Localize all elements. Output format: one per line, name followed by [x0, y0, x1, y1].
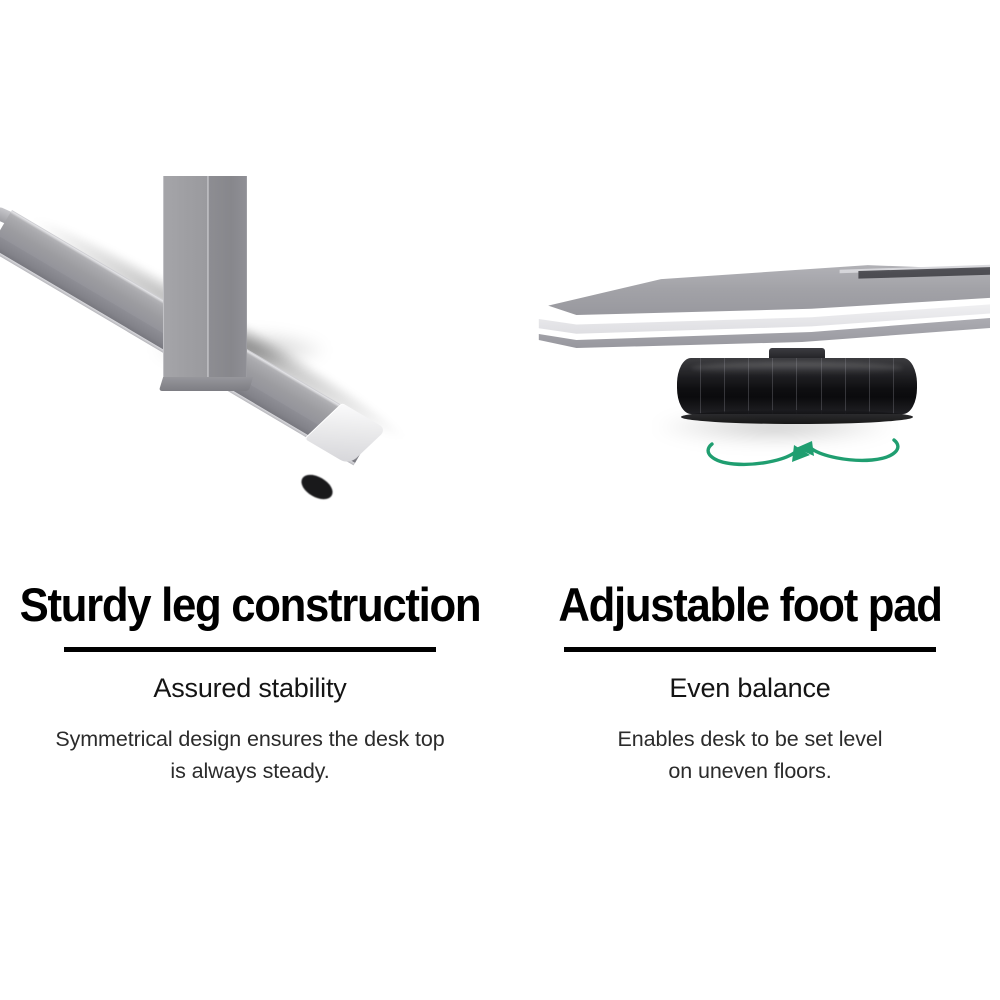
floor-pad-near-icon	[297, 470, 336, 504]
heading-divider	[64, 647, 436, 652]
panel-subheading: Assured stability	[0, 673, 500, 704]
panel-body: Symmetrical design ensures the desk top …	[0, 723, 500, 787]
panel-body-line: is always steady.	[0, 755, 500, 787]
panel-subheading: Even balance	[500, 673, 1000, 704]
vertical-column	[163, 176, 247, 384]
column-right-face	[209, 176, 247, 384]
panel-body-line: Symmetrical design ensures the desk top	[0, 723, 500, 755]
panel-sturdy-leg: Sturdy leg construction Assured stabilit…	[0, 0, 500, 1000]
adjustable-knob	[677, 358, 917, 420]
panel-row: Sturdy leg construction Assured stabilit…	[0, 0, 1000, 1000]
heading-divider	[564, 647, 936, 652]
column-left-face	[163, 176, 209, 384]
text-block-foot-pad: Adjustable foot pad Even balance Enables…	[500, 575, 1000, 787]
rotation-arrows-icon	[698, 418, 908, 478]
desk-leg-illustration	[0, 0, 500, 575]
foot-pad-illustration	[500, 0, 1000, 575]
panel-body: Enables desk to be set level on uneven f…	[500, 723, 1000, 787]
column-base-joint	[159, 377, 253, 391]
rotation-arrow-left-path	[708, 444, 794, 464]
panel-heading: Sturdy leg construction	[18, 575, 483, 635]
knob-body	[677, 358, 917, 414]
panel-body-line: on uneven floors.	[500, 755, 1000, 787]
rotation-arrow-right-path	[812, 440, 898, 460]
product-image-foot-pad	[500, 0, 1000, 575]
panel-body-line: Enables desk to be set level	[500, 723, 1000, 755]
panel-adjustable-foot-pad: Adjustable foot pad Even balance Enables…	[500, 0, 1000, 1000]
knob-highlight	[691, 362, 902, 374]
infographic-page: Sturdy leg construction Assured stabilit…	[0, 0, 1000, 1000]
text-block-sturdy-leg: Sturdy leg construction Assured stabilit…	[0, 575, 500, 787]
product-image-sturdy-leg	[0, 0, 500, 575]
panel-heading: Adjustable foot pad	[518, 575, 983, 635]
